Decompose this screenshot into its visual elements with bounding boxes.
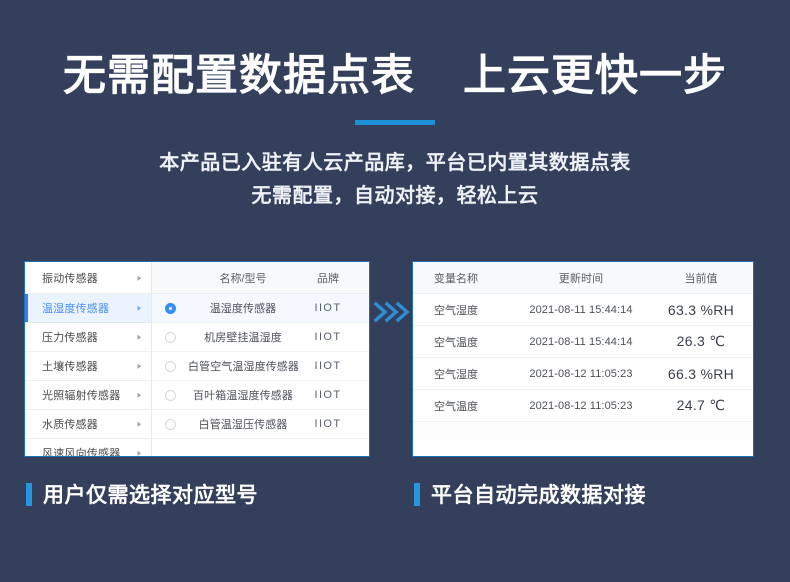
radio-button[interactable]: [165, 361, 176, 372]
variable-name: 空气湿度: [413, 366, 513, 382]
column-header-variable: 变量名称: [413, 270, 513, 286]
chevron-right-icon: ▸: [137, 272, 141, 284]
accent-bar-icon: [26, 483, 32, 506]
chevron-right-icon: ▸: [137, 418, 141, 430]
variable-table-header: 变量名称 更新时间 当前值: [413, 262, 753, 294]
chevron-right-icon: ▸: [137, 389, 141, 401]
variable-value: 24.7 ℃: [649, 397, 753, 414]
row-select-cell[interactable]: [152, 361, 188, 372]
page-title: 无需配置数据点表 上云更快一步: [0, 52, 790, 101]
product-table-header: 名称/型号 品牌: [152, 262, 369, 294]
radio-button[interactable]: [165, 332, 176, 343]
variable-name: 空气温度: [413, 334, 513, 350]
variable-time: 2021-08-11 15:44:14: [513, 304, 649, 316]
chevron-right-icon: ▸: [137, 360, 141, 372]
caption-right: 平台自动完成数据对接: [414, 479, 646, 509]
sidebar-item-temp-humidity[interactable]: 温湿度传感器 ▸: [25, 294, 151, 323]
product-name: 机房壁挂温湿度: [188, 329, 298, 345]
product-brand: IIOT: [298, 331, 358, 343]
radio-button[interactable]: [165, 390, 176, 401]
variable-value: 66.3 %RH: [649, 366, 753, 382]
variable-data-panel: 变量名称 更新时间 当前值 空气湿度 2021-08-11 15:44:14 6…: [412, 261, 754, 457]
table-row[interactable]: 百叶箱温湿度传感器 IIOT: [152, 381, 369, 410]
sidebar-item-vibration[interactable]: 振动传感器 ▸: [25, 262, 151, 294]
sensor-category-list: 振动传感器 ▸ 温湿度传感器 ▸ 压力传感器 ▸ 土壤传感器 ▸ 光照辐射传感器: [25, 262, 152, 456]
variable-value: 26.3 ℃: [649, 333, 753, 350]
product-selection-panel: 振动传感器 ▸ 温湿度传感器 ▸ 压力传感器 ▸ 土壤传感器 ▸ 光照辐射传感器: [24, 261, 370, 457]
row-select-cell[interactable]: [152, 303, 188, 314]
sidebar-item-label: 光照辐射传感器: [42, 387, 133, 403]
sidebar-item-soil[interactable]: 土壤传感器 ▸: [25, 352, 151, 381]
row-select-cell[interactable]: [152, 332, 188, 343]
column-header-value: 当前值: [649, 270, 753, 286]
sidebar-item-wind[interactable]: 风速风向传感器 ▸: [25, 439, 151, 457]
sidebar-item-label: 压力传感器: [42, 329, 133, 345]
table-row: 空气温度 2021-08-12 11:05:23 24.7 ℃: [413, 390, 753, 422]
table-row[interactable]: 机房壁挂温湿度 IIOT: [152, 323, 369, 352]
table-row: 空气温度 2021-08-11 15:44:14 26.3 ℃: [413, 326, 753, 358]
product-brand: IIOT: [298, 418, 358, 430]
subtitle-block: 本产品已入驻有人云产品库，平台已内置其数据点表 无需配置，自动对接，轻松上云: [0, 147, 790, 213]
chevron-right-icon: ▸: [137, 447, 141, 457]
variable-time: 2021-08-11 15:44:14: [513, 336, 649, 348]
radio-button-selected[interactable]: [165, 303, 176, 314]
subtitle-line-2: 无需配置，自动对接，轻松上云: [0, 180, 790, 213]
subtitle-line-1: 本产品已入驻有人云产品库，平台已内置其数据点表: [0, 147, 790, 180]
table-row[interactable]: 白管温湿压传感器 IIOT: [152, 410, 369, 439]
caption-right-text: 平台自动完成数据对接: [431, 479, 646, 509]
product-selection-inner: 振动传感器 ▸ 温湿度传感器 ▸ 压力传感器 ▸ 土壤传感器 ▸ 光照辐射传感器: [25, 262, 369, 456]
product-brand: IIOT: [298, 302, 358, 314]
column-header-brand: 品牌: [298, 270, 358, 286]
sidebar-item-label: 土壤传感器: [42, 358, 133, 374]
chevron-right-icon: ▸: [137, 302, 141, 314]
product-name: 白管空气温湿度传感器: [188, 358, 298, 374]
panels-region: 振动传感器 ▸ 温湿度传感器 ▸ 压力传感器 ▸ 土壤传感器 ▸ 光照辐射传感器: [0, 261, 790, 461]
table-row[interactable]: 温湿度传感器 IIOT: [152, 294, 369, 323]
variable-time: 2021-08-12 11:05:23: [513, 368, 649, 380]
captions-region: 用户仅需选择对应型号 平台自动完成数据对接: [0, 479, 790, 519]
product-name: 温湿度传感器: [188, 300, 298, 316]
table-row: 空气湿度 2021-08-12 11:05:23 66.3 %RH: [413, 358, 753, 390]
variable-value: 63.3 %RH: [649, 302, 753, 318]
radio-button[interactable]: [165, 419, 176, 430]
sidebar-item-label: 水质传感器: [42, 416, 133, 432]
product-name: 百叶箱温湿度传感器: [188, 387, 298, 403]
sidebar-item-water-quality[interactable]: 水质传感器 ▸: [25, 410, 151, 439]
sidebar-item-pressure[interactable]: 压力传感器 ▸: [25, 323, 151, 352]
table-row: 空气湿度 2021-08-11 15:44:14 63.3 %RH: [413, 294, 753, 326]
caption-left: 用户仅需选择对应型号: [26, 479, 258, 509]
triple-chevron-right-icon: [372, 299, 412, 325]
sidebar-item-label: 振动传感器: [42, 270, 133, 286]
row-select-cell[interactable]: [152, 390, 188, 401]
variable-time: 2021-08-12 11:05:23: [513, 400, 649, 412]
caption-left-text: 用户仅需选择对应型号: [43, 479, 258, 509]
accent-bar-icon: [414, 483, 420, 506]
sidebar-item-label: 风速风向传感器: [42, 445, 133, 457]
column-header-name: 名称/型号: [188, 270, 298, 286]
header-block: 无需配置数据点表 上云更快一步 本产品已入驻有人云产品库，平台已内置其数据点表 …: [0, 0, 790, 213]
variable-name: 空气温度: [413, 398, 513, 414]
product-model-table: 名称/型号 品牌 温湿度传感器 IIOT 机房壁挂温湿度 IIOT: [152, 262, 369, 456]
sidebar-item-label: 温湿度传感器: [42, 300, 133, 316]
page-title-part1: 无需配置数据点表: [63, 52, 415, 100]
variable-name: 空气湿度: [413, 302, 513, 318]
table-row[interactable]: 白管空气温湿度传感器 IIOT: [152, 352, 369, 381]
page-title-part2: 上云更快一步: [463, 52, 727, 100]
chevron-right-icon: ▸: [137, 331, 141, 343]
sidebar-item-illuminance[interactable]: 光照辐射传感器 ▸: [25, 381, 151, 410]
title-underline: [355, 120, 435, 125]
table-empty-row: [413, 422, 753, 440]
column-header-updated: 更新时间: [513, 270, 649, 286]
product-brand: IIOT: [298, 389, 358, 401]
product-brand: IIOT: [298, 360, 358, 372]
row-select-cell[interactable]: [152, 419, 188, 430]
product-name: 白管温湿压传感器: [188, 416, 298, 432]
